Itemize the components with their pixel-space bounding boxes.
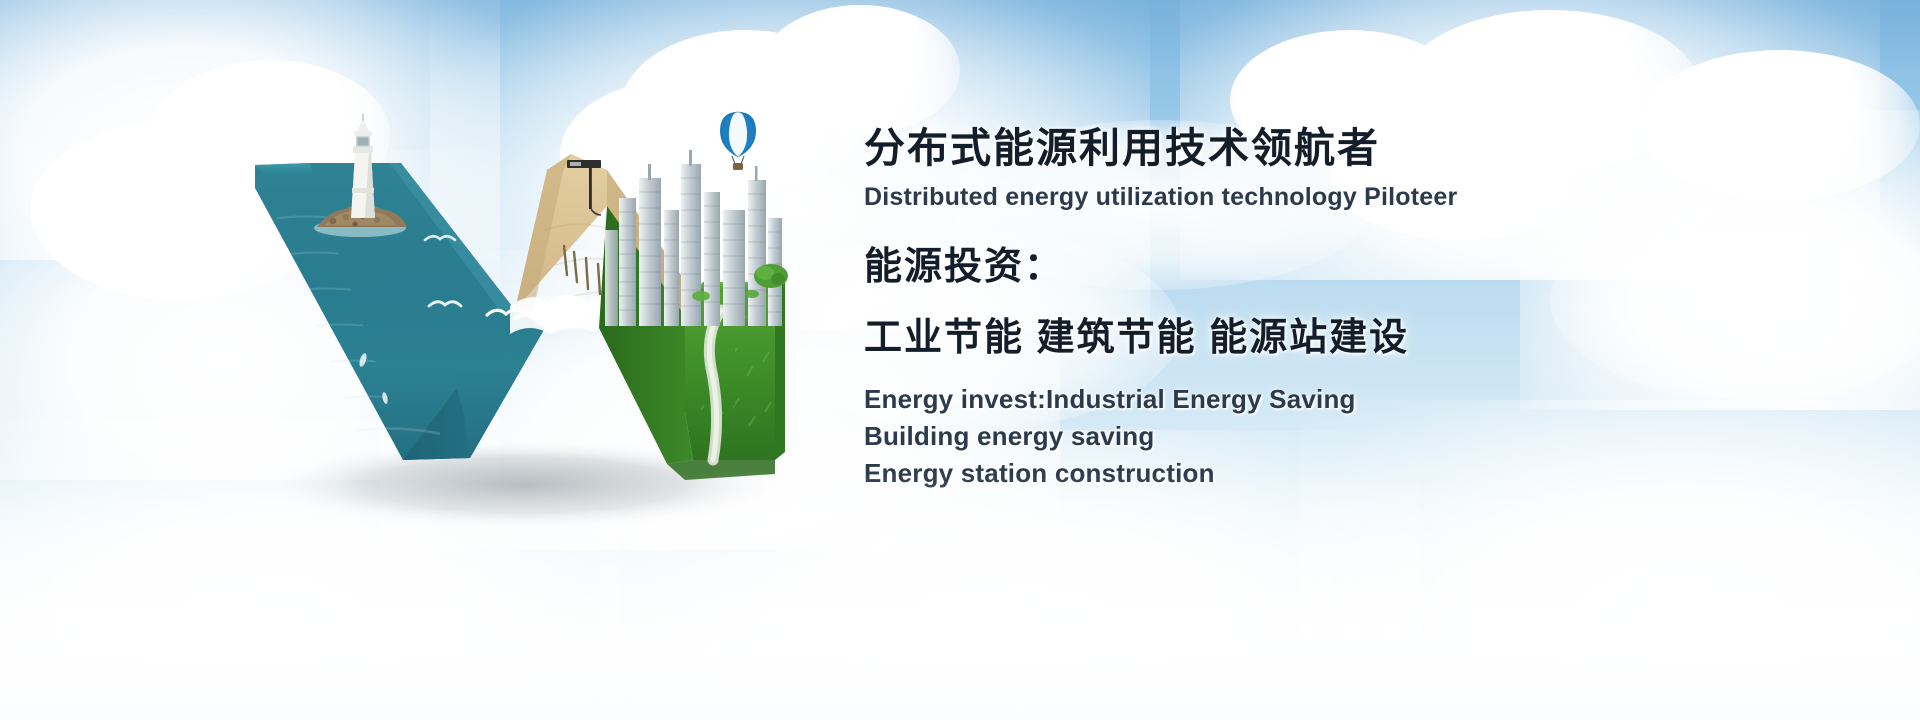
hero-banner: 分布式能源利用技术领航者 Distributed energy utilizat… xyxy=(0,0,1920,720)
headline-chinese: 分布式能源利用技术领航者 xyxy=(864,126,1874,172)
tree-top xyxy=(754,264,788,288)
section-label-chinese: 能源投资： xyxy=(864,235,1874,290)
hot-air-balloon xyxy=(720,112,756,170)
subtitle-english: Distributed energy utilization technolog… xyxy=(864,183,1874,212)
services-english-line-3: Energy station construction xyxy=(864,455,1874,492)
lighthouse xyxy=(351,114,375,218)
services-list-chinese: 工业节能 建筑节能 能源站建设 xyxy=(864,306,1874,361)
city-skyline xyxy=(605,150,782,326)
services-english-line-2: Building energy saving xyxy=(864,418,1874,455)
letter-w-artwork xyxy=(215,60,865,530)
services-english-line-1: Energy invest:Industrial Energy Saving xyxy=(864,381,1874,418)
banner-copy: 分布式能源利用技术领航者 Distributed energy utilizat… xyxy=(864,126,1874,492)
